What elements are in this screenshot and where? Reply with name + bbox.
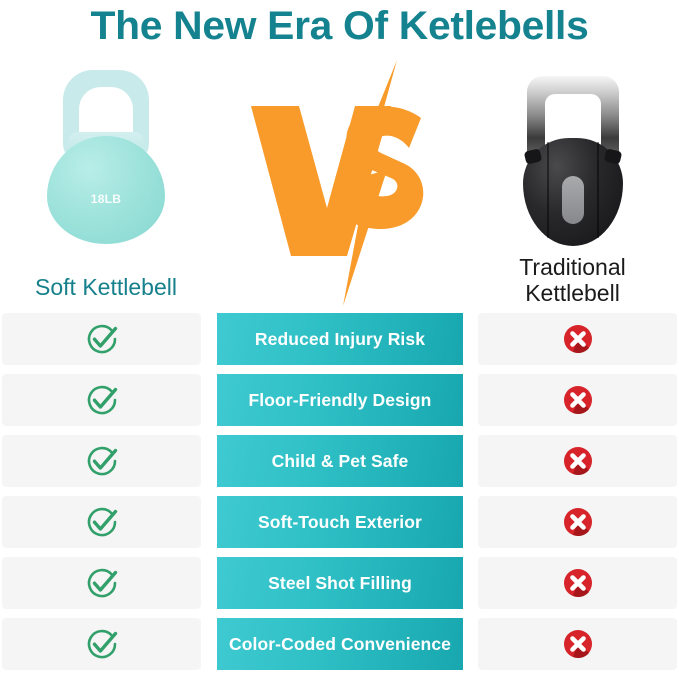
traditional-kettlebell-cell	[478, 618, 677, 670]
table-row: Color-Coded Convenience	[0, 618, 679, 670]
check-circle-icon	[85, 322, 119, 356]
feature-label-text: Child & Pet Safe	[272, 451, 409, 472]
traditional-kettlebell-cell	[478, 557, 677, 609]
traditional-kettlebell-seam-left	[547, 142, 549, 238]
comparison-table: Reduced Injury RiskFloor-Friendly Design…	[0, 313, 679, 679]
soft-kettlebell-cell	[2, 557, 201, 609]
feature-label-text: Reduced Injury Risk	[255, 329, 425, 350]
check-circle-icon	[85, 383, 119, 417]
cross-circle-icon	[563, 568, 593, 598]
cross-circle-icon	[563, 446, 593, 476]
traditional-kettlebell-title: Traditional Kettlebell	[466, 254, 679, 306]
soft-kettlebell-cell	[2, 496, 201, 548]
soft-kettlebell-cell	[2, 374, 201, 426]
check-circle-icon	[85, 505, 119, 539]
feature-label: Child & Pet Safe	[217, 435, 463, 487]
feature-label: Floor-Friendly Design	[217, 374, 463, 426]
traditional-kettlebell-icon	[509, 76, 637, 246]
soft-kettlebell-cell	[2, 435, 201, 487]
soft-kettlebell-icon: 18LB	[41, 70, 171, 245]
soft-kettlebell-body	[47, 136, 165, 244]
feature-label: Color-Coded Convenience	[217, 618, 463, 670]
traditional-kettlebell-cell	[478, 435, 677, 487]
hero-right-column: Traditional Kettlebell	[466, 58, 679, 308]
cross-circle-icon	[563, 629, 593, 659]
soft-kettlebell-title: Soft Kettlebell	[0, 274, 212, 300]
cross-circle-icon	[563, 324, 593, 354]
table-row: Steel Shot Filling	[0, 557, 679, 609]
check-circle-icon	[85, 627, 119, 661]
table-row: Reduced Injury Risk	[0, 313, 679, 365]
table-row: Soft-Touch Exterior	[0, 496, 679, 548]
hero-section: 18LB Soft Kettlebell	[0, 58, 679, 308]
traditional-kettlebell-cell	[478, 313, 677, 365]
check-circle-icon	[85, 444, 119, 478]
soft-kettlebell-cell	[2, 618, 201, 670]
feature-label: Steel Shot Filling	[217, 557, 463, 609]
feature-label-text: Steel Shot Filling	[268, 573, 412, 594]
page-title: The New Era Of Ketlebells	[0, 2, 679, 50]
feature-label-text: Floor-Friendly Design	[249, 390, 432, 411]
cross-circle-icon	[563, 507, 593, 537]
hero-left-column: 18LB Soft Kettlebell	[0, 58, 212, 308]
feature-label-text: Soft-Touch Exterior	[258, 512, 422, 533]
table-row: Child & Pet Safe	[0, 435, 679, 487]
traditional-kettlebell-title-line1: Traditional	[466, 254, 679, 280]
hero-center-column	[215, 58, 465, 308]
traditional-kettlebell-cell	[478, 374, 677, 426]
feature-label: Reduced Injury Risk	[217, 313, 463, 365]
traditional-kettlebell-cell	[478, 496, 677, 548]
cross-circle-icon	[563, 385, 593, 415]
check-circle-icon	[85, 566, 119, 600]
traditional-kettlebell-plate	[562, 176, 584, 224]
feature-label-text: Color-Coded Convenience	[229, 634, 451, 655]
feature-label: Soft-Touch Exterior	[217, 496, 463, 548]
vs-lightning-icon	[215, 58, 465, 308]
traditional-kettlebell-title-line2: Kettlebell	[466, 280, 679, 306]
soft-kettlebell-weight-label: 18LB	[41, 192, 171, 206]
soft-kettlebell-cell	[2, 313, 201, 365]
traditional-kettlebell-seam-right	[597, 142, 599, 238]
table-row: Floor-Friendly Design	[0, 374, 679, 426]
